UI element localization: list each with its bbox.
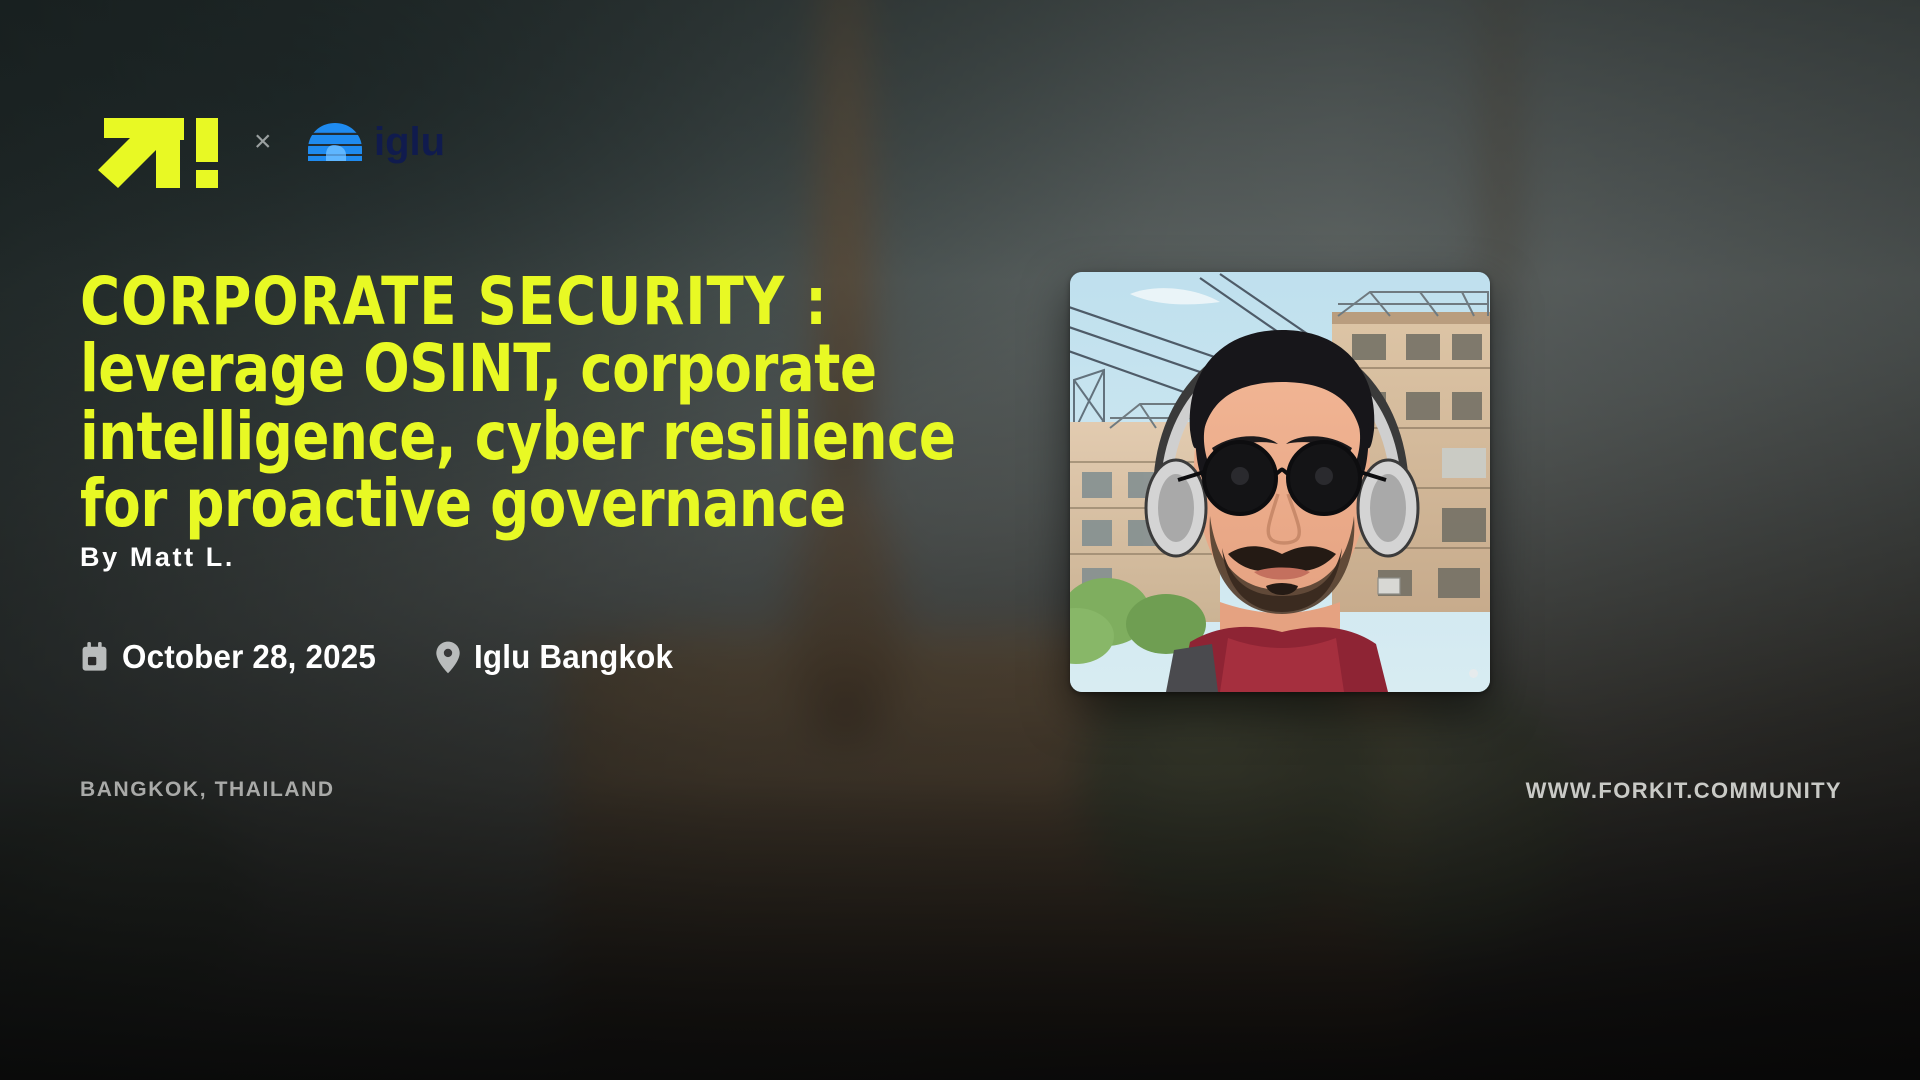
event-date: October 28, 2025	[80, 638, 389, 676]
event-location: Iglu Bangkok	[435, 638, 684, 676]
igloo-icon	[306, 119, 364, 165]
speaker-portrait-illustration	[1070, 272, 1490, 692]
speaker-portrait	[1070, 272, 1490, 692]
event-meta-row: October 28, 2025 Iglu Bangkok	[80, 638, 684, 676]
event-date-text: October 28, 2025	[122, 638, 376, 676]
calendar-icon	[80, 642, 109, 673]
forkit-logo[interactable]	[80, 96, 220, 188]
title-block: CORPORATE SECURITY :leverage OSINT, corp…	[80, 268, 1060, 537]
event-banner: ×	[0, 0, 1920, 1080]
speaker-byline: By Matt L.	[80, 542, 235, 573]
logo-row: ×	[80, 96, 468, 188]
iglu-logo[interactable]: iglu	[306, 116, 468, 168]
iglu-wordmark-text: iglu	[374, 120, 445, 164]
collab-separator-icon: ×	[254, 127, 272, 157]
iglu-wordmark: iglu	[374, 116, 468, 168]
map-pin-icon	[435, 641, 461, 674]
photo-corner-dot	[1469, 669, 1478, 678]
footer-website[interactable]: WWW.FORKIT.COMMUNITY	[1526, 778, 1842, 804]
title-subline: leverage OSINT, corporate intelligence, …	[80, 330, 956, 542]
page-title: CORPORATE SECURITY :leverage OSINT, corp…	[80, 268, 982, 537]
title-line-1: CORPORATE SECURITY :	[80, 268, 982, 335]
footer-city: BANGKOK, THAILAND	[80, 778, 335, 802]
event-location-text: Iglu Bangkok	[474, 638, 673, 676]
